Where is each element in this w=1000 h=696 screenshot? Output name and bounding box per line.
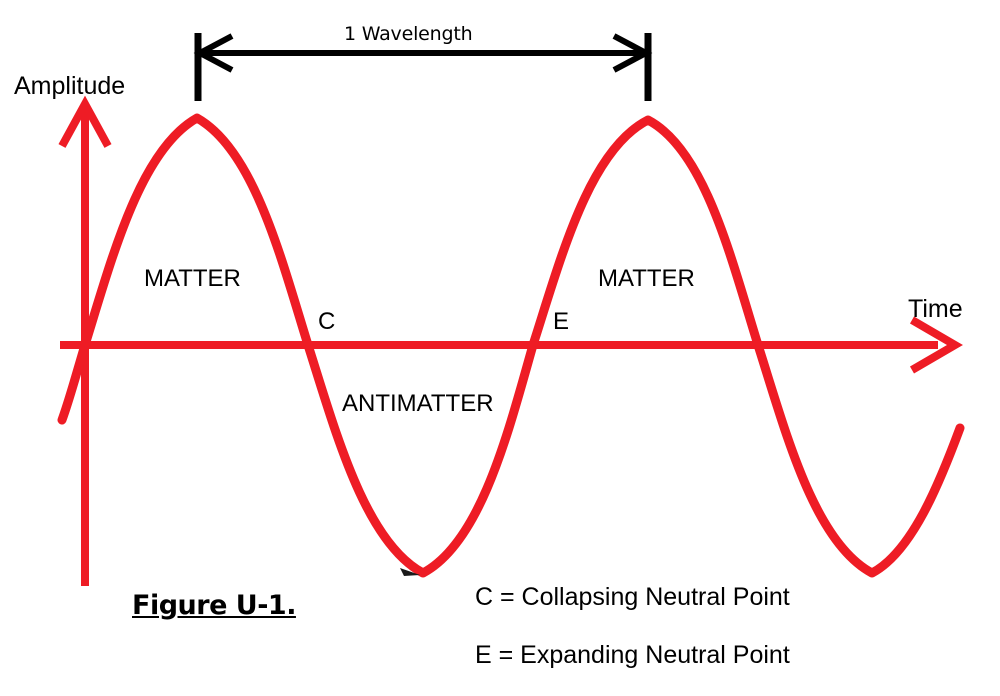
marker-label-e: E [553, 310, 569, 334]
wavelength-annotation-label: 1 Wavelength [344, 25, 472, 44]
figure-canvas: Amplitude Time 1 Wavelength MATTER MATTE… [0, 0, 1000, 696]
region-label-matter-left: MATTER [144, 267, 241, 291]
figure-caption: Figure U-1. [132, 592, 296, 619]
region-label-matter-right: MATTER [598, 267, 695, 291]
x-axis-label: Time [908, 297, 963, 322]
legend-item-c: C = Collapsing Neutral Point [475, 585, 790, 610]
marker-label-c: C [318, 310, 335, 334]
region-label-antimatter: ANTIMATTER [342, 392, 494, 416]
y-axis-label: Amplitude [14, 74, 125, 99]
legend-item-e: E = Expanding Neutral Point [475, 643, 790, 668]
